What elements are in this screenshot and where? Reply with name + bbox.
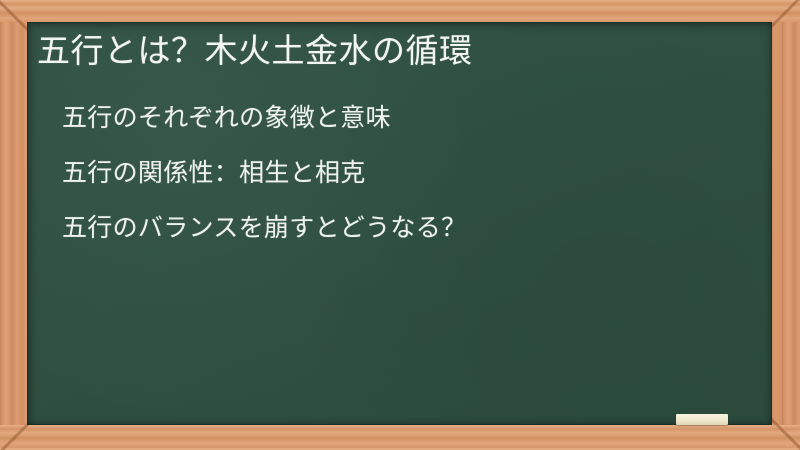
wood-rail-top — [0, 0, 800, 22]
wood-rail-bottom — [0, 425, 800, 450]
list-item: 五行のそれぞれの象徴と意味 — [62, 102, 466, 134]
bullet-list: 五行のそれぞれの象徴と意味 五行の関係性：相生と相克 五行のバランスを崩すとどう… — [62, 102, 466, 244]
blackboard-frame: 五行とは？木火土金水の循環 五行のそれぞれの象徴と意味 五行の関係性：相生と相克… — [0, 0, 800, 450]
chalkboard-surface: 五行とは？木火土金水の循環 五行のそれぞれの象徴と意味 五行の関係性：相生と相克… — [27, 22, 772, 425]
list-item: 五行の関係性：相生と相克 — [62, 157, 466, 189]
board-title: 五行とは？木火土金水の循環 — [37, 30, 473, 72]
list-item: 五行のバランスを崩すとどうなる？ — [62, 212, 466, 244]
chalk-stick-icon — [676, 414, 728, 425]
